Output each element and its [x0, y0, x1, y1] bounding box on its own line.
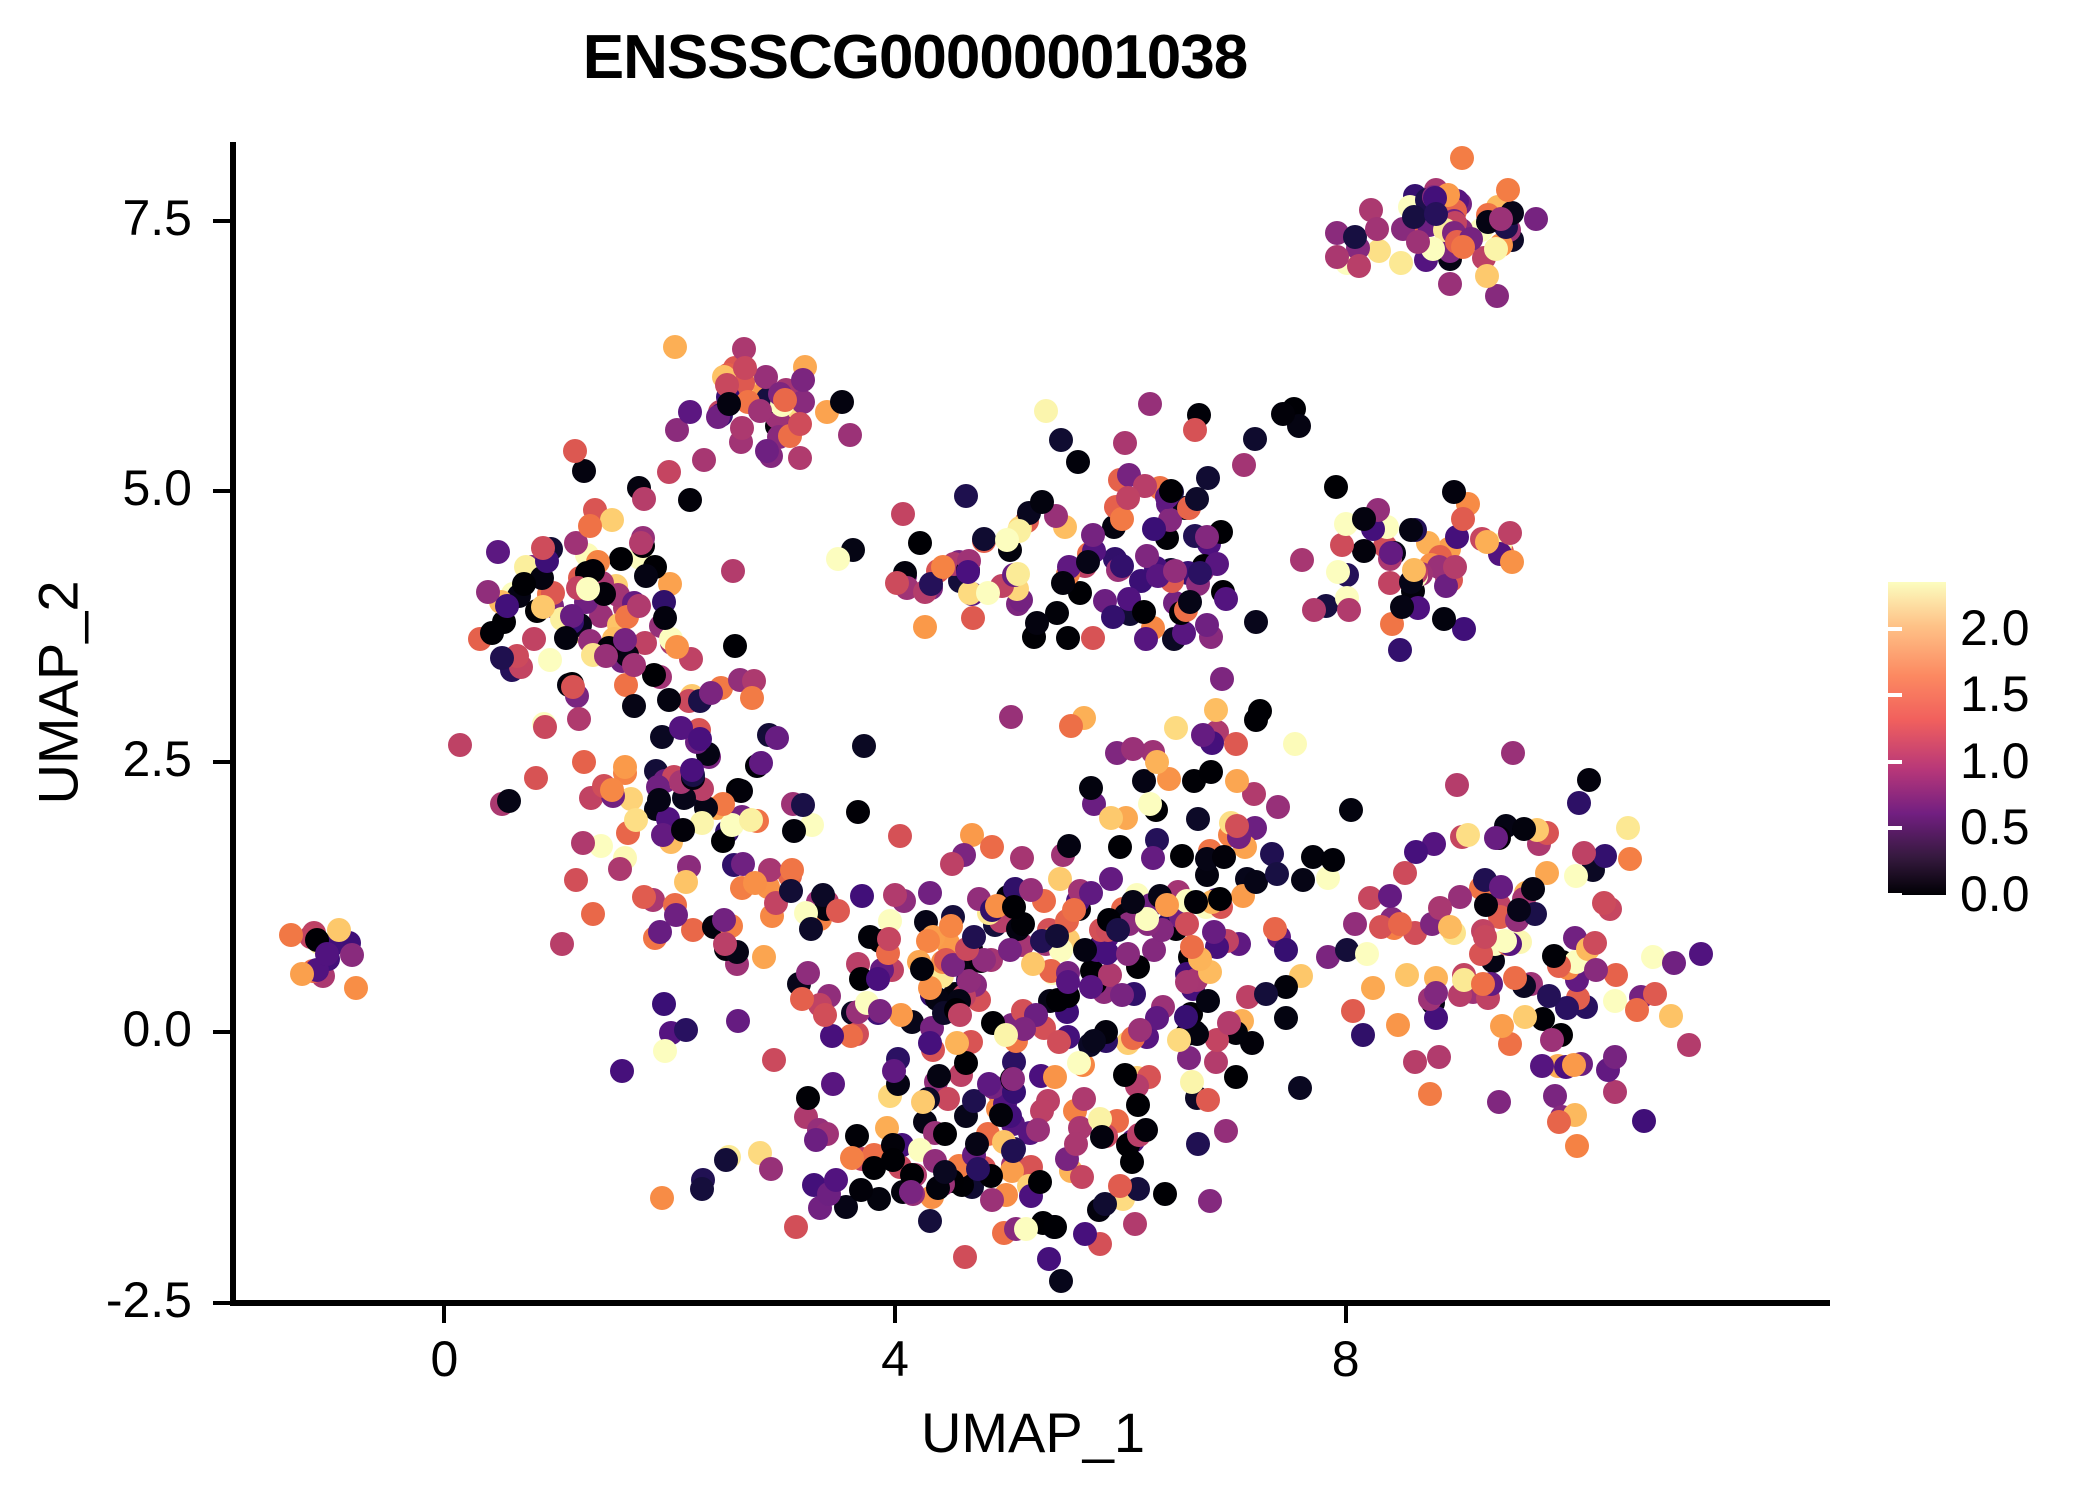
scatter-point — [1689, 942, 1713, 966]
scatter-point — [657, 460, 681, 484]
scatter-point — [1210, 667, 1234, 691]
scatter-point — [1266, 795, 1290, 819]
scatter-point — [1471, 972, 1495, 996]
scatter-point — [448, 733, 472, 757]
y-tick-mark — [213, 489, 230, 493]
scatter-point — [688, 727, 712, 751]
scatter-point — [1643, 982, 1667, 1006]
scatter-point — [1445, 773, 1469, 797]
scatter-point — [1108, 835, 1132, 859]
scatter-point — [882, 1059, 906, 1083]
scatter-point — [1542, 944, 1566, 968]
scatter-point — [830, 390, 854, 414]
scatter-point — [1291, 868, 1315, 892]
scatter-point — [627, 594, 651, 618]
scatter-point — [866, 967, 890, 991]
scatter-point — [572, 459, 596, 483]
scatter-point — [1274, 1006, 1298, 1030]
scatter-point — [1524, 207, 1548, 231]
scatter-point — [1402, 205, 1426, 229]
scatter-point — [495, 594, 519, 618]
scatter-point — [1475, 530, 1499, 554]
scatter-point — [752, 945, 776, 969]
scatter-point — [999, 705, 1023, 729]
scatter-point — [678, 488, 702, 512]
scatter-point — [1438, 915, 1462, 939]
scatter-point — [538, 648, 562, 672]
scatter-point — [927, 1064, 951, 1088]
scatter-point — [765, 726, 789, 750]
scatter-point — [1603, 1045, 1627, 1069]
scatter-point — [1403, 1050, 1427, 1074]
scatter-point — [1232, 453, 1256, 477]
scatter-point — [1028, 1170, 1052, 1194]
scatter-point — [561, 675, 585, 699]
scatter-point — [554, 626, 578, 650]
y-tick-label: 0.0 — [0, 1000, 192, 1058]
scatter-point — [690, 1177, 714, 1201]
scatter-point — [1324, 475, 1348, 499]
scatter-point — [653, 606, 677, 630]
scatter-point — [1059, 714, 1083, 738]
scatter-point — [1632, 1109, 1656, 1133]
scatter-point — [1057, 834, 1081, 858]
plot-panel — [236, 118, 1830, 1303]
scatter-point — [1049, 428, 1073, 452]
scatter-point — [567, 707, 591, 731]
scatter-point — [1202, 920, 1226, 944]
scatter-point — [1001, 1067, 1025, 1091]
scatter-point — [512, 572, 536, 596]
scatter-point — [1019, 878, 1043, 902]
scatter-point — [572, 750, 596, 774]
scatter-point — [653, 1039, 677, 1063]
scatter-point — [632, 885, 656, 909]
scatter-point — [717, 392, 741, 416]
colorbar-tick — [1888, 760, 1902, 764]
scatter-point — [1616, 816, 1640, 840]
scatter-point — [1603, 1080, 1627, 1104]
scatter-point — [1113, 431, 1137, 455]
scatter-point — [840, 1146, 864, 1170]
scatter-point — [908, 531, 932, 555]
scatter-point — [1339, 798, 1363, 822]
colorbar-label: 2.0 — [1960, 599, 2030, 657]
scatter-point — [1006, 562, 1030, 586]
scatter-point — [1180, 935, 1204, 959]
scatter-point — [899, 1180, 923, 1204]
colorbar-label: 0.0 — [1960, 865, 2030, 923]
scatter-point — [1081, 523, 1105, 547]
scatter-point — [826, 547, 850, 571]
scatter-point — [820, 1024, 844, 1048]
scatter-point — [1184, 890, 1208, 914]
scatter-point — [1106, 918, 1130, 942]
scatter-point — [804, 1128, 828, 1152]
scatter-point — [1388, 638, 1412, 662]
scatter-point — [680, 758, 704, 782]
scatter-point — [1110, 554, 1134, 578]
scatter-point — [1175, 970, 1199, 994]
scatter-point — [1347, 254, 1371, 278]
scatter-point — [1116, 942, 1140, 966]
scatter-point — [1244, 708, 1268, 732]
scatter-point — [578, 514, 602, 538]
scatter-point — [1489, 875, 1513, 899]
scatter-point — [1562, 1053, 1586, 1077]
scatter-point — [918, 1031, 942, 1055]
scatter-point — [1037, 1247, 1061, 1271]
scatter-point — [1500, 550, 1524, 574]
scatter-point — [1043, 1065, 1067, 1089]
scatter-point — [1172, 621, 1196, 645]
colorbar-tick — [2064, 826, 2078, 830]
scatter-point — [1496, 178, 1520, 202]
scatter-point — [1501, 741, 1525, 765]
scatter-point — [1365, 217, 1389, 241]
scatter-point — [1487, 1090, 1511, 1114]
scatter-point — [972, 527, 996, 551]
scatter-point — [1302, 598, 1326, 622]
scatter-point — [1110, 983, 1134, 1007]
scatter-point — [1341, 999, 1365, 1023]
scatter-point — [726, 1009, 750, 1033]
scatter-point — [1090, 1125, 1114, 1149]
colorbar-tick — [1888, 627, 1902, 631]
y-tick-mark — [213, 219, 230, 223]
scatter-point — [571, 831, 595, 855]
scatter-point — [1290, 548, 1314, 572]
scatter-point — [1395, 963, 1419, 987]
scatter-point — [1367, 239, 1391, 263]
scatter-point — [918, 1209, 942, 1233]
scatter-point — [1659, 1004, 1683, 1028]
scatter-point — [1141, 846, 1165, 870]
scatter-point — [1565, 1134, 1589, 1158]
scatter-point — [1159, 479, 1183, 503]
colorbar-tick — [2064, 693, 2078, 697]
scatter-point — [850, 884, 874, 908]
scatter-point — [911, 1090, 935, 1114]
y-tick-label: -2.5 — [0, 1271, 192, 1329]
scatter-point — [998, 938, 1022, 962]
scatter-point — [1138, 792, 1162, 816]
scatter-point — [1243, 427, 1267, 451]
scatter-point — [344, 976, 368, 1000]
scatter-point — [624, 808, 648, 832]
scatter-point — [824, 1168, 848, 1192]
x-tick-mark — [442, 1306, 446, 1323]
scatter-point — [1352, 507, 1376, 531]
scatter-point — [1123, 1212, 1147, 1236]
scatter-point — [533, 715, 557, 739]
scatter-point — [1351, 1023, 1375, 1047]
scatter-point — [1537, 984, 1561, 1008]
scatter-point — [796, 961, 820, 985]
scatter-point — [849, 1178, 873, 1202]
scatter-point — [784, 1215, 808, 1239]
scatter-point — [976, 581, 1000, 605]
colorbar-label: 0.5 — [1960, 798, 2030, 856]
scatter-point — [576, 577, 600, 601]
scatter-point — [1196, 1088, 1220, 1112]
scatter-point — [1443, 555, 1467, 579]
colorbar-tick — [1888, 693, 1902, 697]
scatter-point — [1274, 975, 1298, 999]
scatter-point — [1593, 844, 1617, 868]
scatter-point — [913, 615, 937, 639]
scatter-point — [632, 487, 656, 511]
scatter-point — [497, 789, 521, 813]
scatter-point — [1512, 817, 1536, 841]
scatter-point — [739, 808, 763, 832]
scatter-point — [740, 686, 764, 710]
scatter-point — [1204, 698, 1228, 722]
scatter-point — [1343, 912, 1367, 936]
y-tick-mark — [213, 760, 230, 764]
scatter-point — [1043, 1215, 1067, 1239]
scatter-point — [1153, 1182, 1177, 1206]
scatter-point — [1010, 846, 1034, 870]
scatter-point — [1438, 272, 1462, 296]
y-axis-line — [230, 142, 236, 1306]
scatter-point — [1186, 807, 1210, 831]
scatter-point — [609, 547, 633, 571]
scatter-point — [1603, 989, 1627, 1013]
scatter-point — [650, 1186, 674, 1210]
umap-feature-plot: ENSSSCG00000001038 048 -2.50.02.55.07.5 … — [0, 0, 2100, 1500]
colorbar-tick — [2064, 893, 2078, 897]
scatter-point — [1214, 587, 1238, 611]
scatter-point — [1204, 1050, 1228, 1074]
scatter-point — [721, 559, 745, 583]
scatter-point — [1199, 760, 1223, 784]
scatter-point — [1025, 611, 1049, 635]
scatter-point — [1196, 989, 1220, 1013]
scatter-point — [581, 902, 605, 926]
scatter-point — [1049, 1269, 1073, 1293]
scatter-point — [1283, 732, 1307, 756]
scatter-point — [845, 1124, 869, 1148]
scatter-point — [1164, 716, 1188, 740]
scatter-point — [1034, 399, 1058, 423]
scatter-point — [980, 835, 1004, 859]
scatter-point — [315, 942, 339, 966]
scatter-point — [1489, 207, 1513, 231]
scatter-point — [1183, 418, 1207, 442]
scatter-point — [1386, 1013, 1410, 1037]
scatter-point — [663, 335, 687, 359]
scatter-point — [1138, 392, 1162, 416]
x-tick-mark — [893, 1306, 897, 1323]
scatter-point — [749, 751, 773, 775]
scatter-point — [1567, 791, 1591, 815]
scatter-point — [1484, 237, 1508, 261]
scatter-point — [1450, 146, 1474, 170]
scatter-point — [1072, 1087, 1096, 1111]
color-legend: 0.00.51.01.52.0 — [1888, 582, 2078, 912]
scatter-point — [1330, 533, 1354, 557]
scatter-point — [788, 412, 812, 436]
scatter-point — [712, 908, 736, 932]
scatter-point — [657, 688, 681, 712]
scatter-point — [1343, 225, 1367, 249]
scatter-point — [1175, 912, 1199, 936]
colorbar-tick — [2064, 760, 2078, 764]
scatter-point — [648, 920, 672, 944]
scatter-point — [610, 1059, 634, 1083]
scatter-point — [762, 1048, 786, 1072]
scatter-point — [674, 1018, 698, 1042]
scatter-point — [1066, 450, 1090, 474]
scatter-point — [1321, 848, 1345, 872]
scatter-point — [1404, 840, 1428, 864]
scatter-point — [564, 868, 588, 892]
scatter-point — [1475, 264, 1499, 288]
scatter-point — [647, 788, 671, 812]
scatter-point — [838, 423, 862, 447]
scatter-point — [1389, 251, 1413, 275]
scatter-point — [486, 540, 510, 564]
scatter-point — [1352, 539, 1376, 563]
scatter-point — [773, 388, 797, 412]
scatter-point — [1224, 1065, 1248, 1089]
scatter-point — [1026, 1118, 1050, 1142]
scatter-point — [1451, 507, 1475, 531]
scatter-point — [1224, 732, 1248, 756]
scatter-point — [279, 923, 303, 947]
scatter-point — [1110, 507, 1134, 531]
scatter-point — [1677, 1033, 1701, 1057]
scatter-point — [723, 634, 747, 658]
scatter-point — [1577, 768, 1601, 792]
scatter-point — [733, 356, 757, 380]
scatter-point — [1521, 877, 1545, 901]
scatter-point — [1424, 981, 1448, 1005]
scatter-point — [1145, 750, 1169, 774]
scatter-point — [1185, 487, 1209, 511]
scatter-point — [939, 914, 963, 938]
scatter-point — [550, 932, 574, 956]
scatter-point — [977, 1072, 1001, 1096]
scatter-point — [1081, 626, 1105, 650]
x-axis-title: UMAP_1 — [236, 1400, 1830, 1465]
scatter-point — [594, 644, 618, 668]
x-tick-label: 0 — [364, 1330, 524, 1388]
scatter-point — [910, 957, 934, 981]
y-tick-mark — [213, 1030, 230, 1034]
scatter-point — [1073, 938, 1097, 962]
scatter-point — [918, 881, 942, 905]
scatter-point — [1099, 867, 1123, 891]
scatter-point — [531, 595, 555, 619]
scatter-point — [954, 484, 978, 508]
scatter-point — [1134, 627, 1158, 651]
scatter-point — [290, 962, 314, 986]
scatter-point — [1186, 1132, 1210, 1156]
scatter-point — [1662, 951, 1686, 975]
scatter-point — [933, 1122, 957, 1146]
scatter-point — [782, 819, 806, 843]
scatter-point — [563, 439, 587, 463]
scatter-point — [490, 646, 514, 670]
scatter-point — [1178, 590, 1202, 614]
scatter-point — [1121, 890, 1145, 914]
scatter-point — [883, 883, 907, 907]
scatter-point — [790, 987, 814, 1011]
scatter-point — [1108, 1174, 1132, 1198]
scatter-point — [980, 1188, 1004, 1212]
scatter-point — [916, 929, 940, 953]
scatter-point — [714, 1148, 738, 1172]
scatter-point — [1195, 613, 1219, 637]
scatter-point — [1288, 1076, 1312, 1100]
scatter-point — [1378, 884, 1402, 908]
scatter-point — [1155, 893, 1179, 917]
scatter-point — [1101, 605, 1125, 629]
scatter-point — [945, 1031, 969, 1055]
scatter-point — [1583, 931, 1607, 955]
scatter-point — [821, 1072, 845, 1096]
x-tick-mark — [1344, 1306, 1348, 1323]
scatter-point — [759, 1157, 783, 1181]
scatter-point — [1030, 490, 1054, 514]
scatter-point — [327, 918, 351, 942]
scatter-point — [1116, 486, 1140, 510]
scatter-point — [1406, 230, 1430, 254]
scatter-point — [1056, 626, 1080, 650]
scatter-point — [1163, 559, 1187, 583]
scatter-point — [652, 992, 676, 1016]
scatter-point — [1047, 1030, 1071, 1054]
scatter-point — [634, 564, 658, 588]
y-tick-label: 7.5 — [0, 189, 192, 247]
scatter-point — [1073, 1222, 1097, 1246]
scatter-point — [600, 508, 624, 532]
colorbar-tick — [1888, 893, 1902, 897]
scatter-point — [779, 879, 803, 903]
scatter-point — [1361, 976, 1385, 1000]
scatter-point — [600, 778, 624, 802]
scatter-point — [799, 917, 823, 941]
scatter-point — [940, 852, 964, 876]
scatter-point — [608, 857, 632, 881]
scatter-point — [956, 560, 980, 584]
scatter-point — [1452, 617, 1476, 641]
scatter-point — [852, 734, 876, 758]
scatter-point — [1564, 864, 1588, 888]
scatter-point — [877, 927, 901, 951]
scatter-point — [953, 1245, 977, 1269]
scatter-point — [480, 621, 504, 645]
scatter-point — [1547, 1110, 1571, 1134]
scatter-point — [961, 606, 985, 630]
scatter-point — [1214, 1119, 1238, 1143]
scatter-point — [1274, 938, 1298, 962]
scatter-point — [622, 694, 646, 718]
scatter-point — [1427, 1045, 1451, 1069]
scatter-point — [1014, 1217, 1038, 1241]
scatter-point — [962, 925, 986, 949]
scatter-point — [1191, 723, 1215, 747]
colorbar-label: 1.0 — [1960, 732, 2030, 790]
scatter-point — [531, 536, 555, 560]
scatter-point — [888, 824, 912, 848]
scatter-point — [1079, 776, 1103, 800]
page-title: ENSSSCG00000001038 — [0, 22, 1830, 93]
scatter-point — [1456, 823, 1480, 847]
scatter-point — [743, 871, 767, 895]
